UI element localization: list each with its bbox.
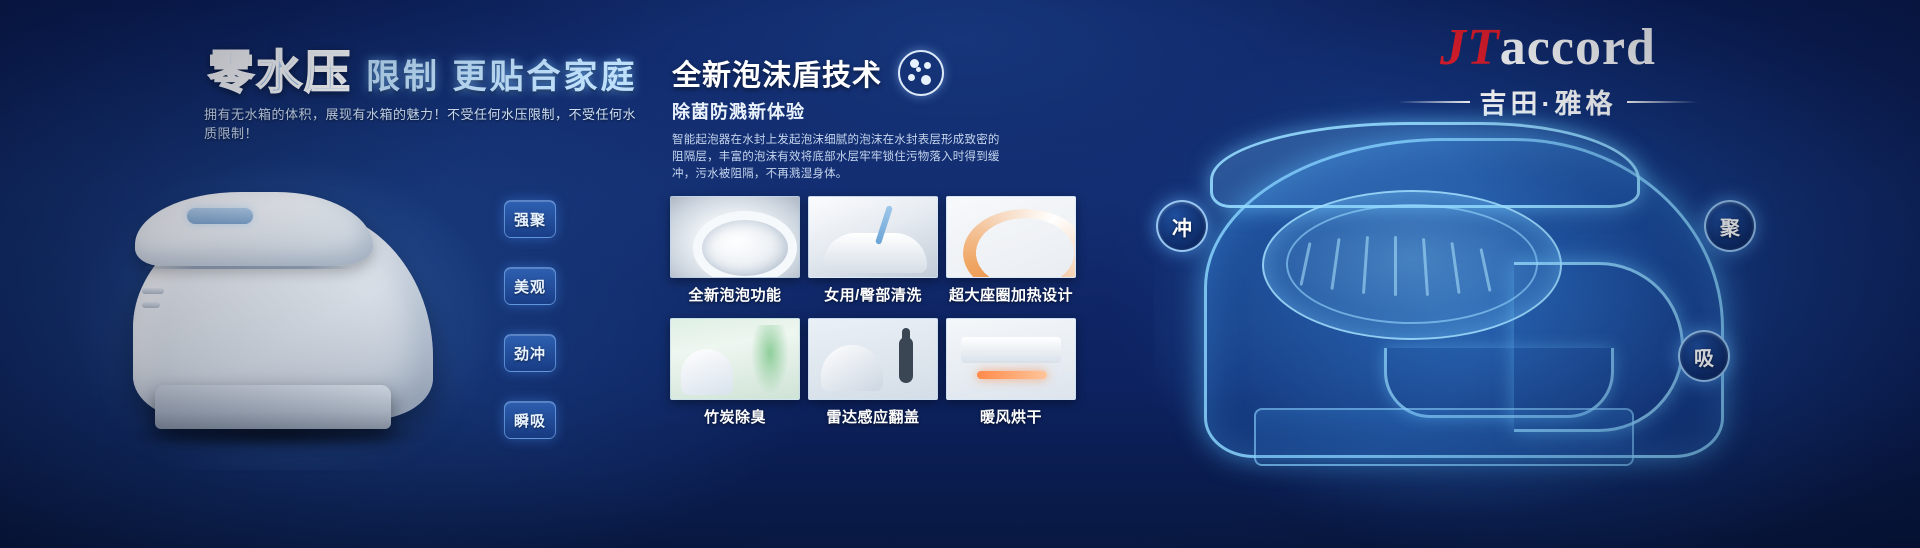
toilet-button-icon <box>142 288 164 294</box>
foam-tech-title-row: 全新泡沫盾技术 <box>672 50 944 96</box>
headline: 零水压 限制 更贴合家庭 <box>208 36 637 102</box>
thumbnail-caption: 全新泡泡功能 <box>670 284 800 305</box>
thumbnail-caption: 竹炭除臭 <box>670 406 800 427</box>
feature-thumbnail-item[interactable]: 雷达感应翻盖 <box>808 318 938 430</box>
foam-tech-title: 全新泡沫盾技术 <box>672 52 882 94</box>
foam-tech-body: 智能起泡器在水封上发起泡沫细腻的泡沫在水封表层形成致密的阻隔层，丰富的泡沫有效将… <box>672 132 1002 183</box>
headline-main: 零水压 <box>208 36 352 102</box>
rule-right <box>1627 101 1699 103</box>
brand-logo-accord: accord <box>1500 19 1656 76</box>
thumbnail-image-foam[interactable] <box>670 196 800 278</box>
feature-pill[interactable]: 瞬吸 <box>504 401 556 439</box>
thumbnail-image-heated-seat[interactable] <box>946 196 1076 278</box>
callout-badge-ju[interactable]: 聚 <box>1704 200 1756 252</box>
thumbnail-caption: 超大座圈加热设计 <box>946 284 1076 305</box>
rule-left <box>1398 101 1470 103</box>
thumbnail-caption: 暖风烘干 <box>946 406 1076 427</box>
feature-pill[interactable]: 美观 <box>504 267 556 305</box>
feature-thumbnail-item[interactable]: 暖风烘干 <box>946 318 1076 430</box>
feature-pill[interactable]: 强聚 <box>504 200 556 238</box>
feature-thumbnail-item[interactable]: 超大座圈加热设计 <box>946 196 1076 308</box>
feature-pill-list: 强聚 美观 劲冲 瞬吸 <box>504 200 556 439</box>
toilet-seam <box>143 266 353 269</box>
headline-sub: 限制 更贴合家庭 <box>366 49 637 102</box>
feature-thumbnail-item[interactable]: 竹炭除臭 <box>670 318 800 430</box>
xray-bowl-inner <box>1286 204 1538 324</box>
feature-thumbnail-item[interactable]: 女用/臀部清洗 <box>808 196 938 308</box>
xray-base <box>1254 408 1634 466</box>
middle-panel: 全新泡沫盾技术 除菌防溅新体验 智能起泡器在水封上发起泡沫细腻的泡沫在水封表层形… <box>660 0 1090 548</box>
brand-logo-jt: JT <box>1440 19 1500 76</box>
toilet-base <box>155 385 391 429</box>
xray-toilet-illustration: 冲 聚 吸 <box>1134 112 1794 532</box>
feature-thumbnail-item[interactable]: 全新泡泡功能 <box>670 196 800 308</box>
left-panel: 零水压 限制 更贴合家庭 拥有无水箱的体积，展现有水箱的魅力！不受任何水压限制，… <box>0 0 640 548</box>
brand-logo-wordmark: JTaccord <box>1398 22 1698 74</box>
thumbnail-image-deodorize[interactable] <box>670 318 800 400</box>
right-panel: JTaccord 吉田·雅格 冲 聚 <box>1120 0 1920 548</box>
thumbnail-caption: 女用/臀部清洗 <box>808 284 938 305</box>
product-banner: 零水压 限制 更贴合家庭 拥有无水箱的体积，展现有水箱的魅力！不受任何水压限制，… <box>0 0 1920 548</box>
callout-badge-chong[interactable]: 冲 <box>1156 200 1208 252</box>
bubble-shield-icon <box>898 50 944 96</box>
feature-thumbnail-grid: 全新泡泡功能 女用/臀部清洗 超大座圈加热设计 竹炭除臭 雷达感应翻盖 暖风烘干 <box>670 196 1076 430</box>
smart-toilet-illustration <box>95 130 475 460</box>
toilet-control-panel-icon <box>187 208 253 224</box>
thumbnail-image-radar-lid[interactable] <box>808 318 938 400</box>
thumbnail-caption: 雷达感应翻盖 <box>808 406 938 427</box>
toilet-button-icon <box>142 302 160 308</box>
thumbnail-image-wash[interactable] <box>808 196 938 278</box>
foam-tech-subtitle: 除菌防溅新体验 <box>672 98 805 124</box>
bubble-ring <box>898 50 944 96</box>
callout-badge-xi[interactable]: 吸 <box>1678 330 1730 382</box>
thumbnail-image-warm-dry[interactable] <box>946 318 1076 400</box>
feature-pill[interactable]: 劲冲 <box>504 334 556 372</box>
brand-logo: JTaccord 吉田·雅格 <box>1398 22 1698 121</box>
